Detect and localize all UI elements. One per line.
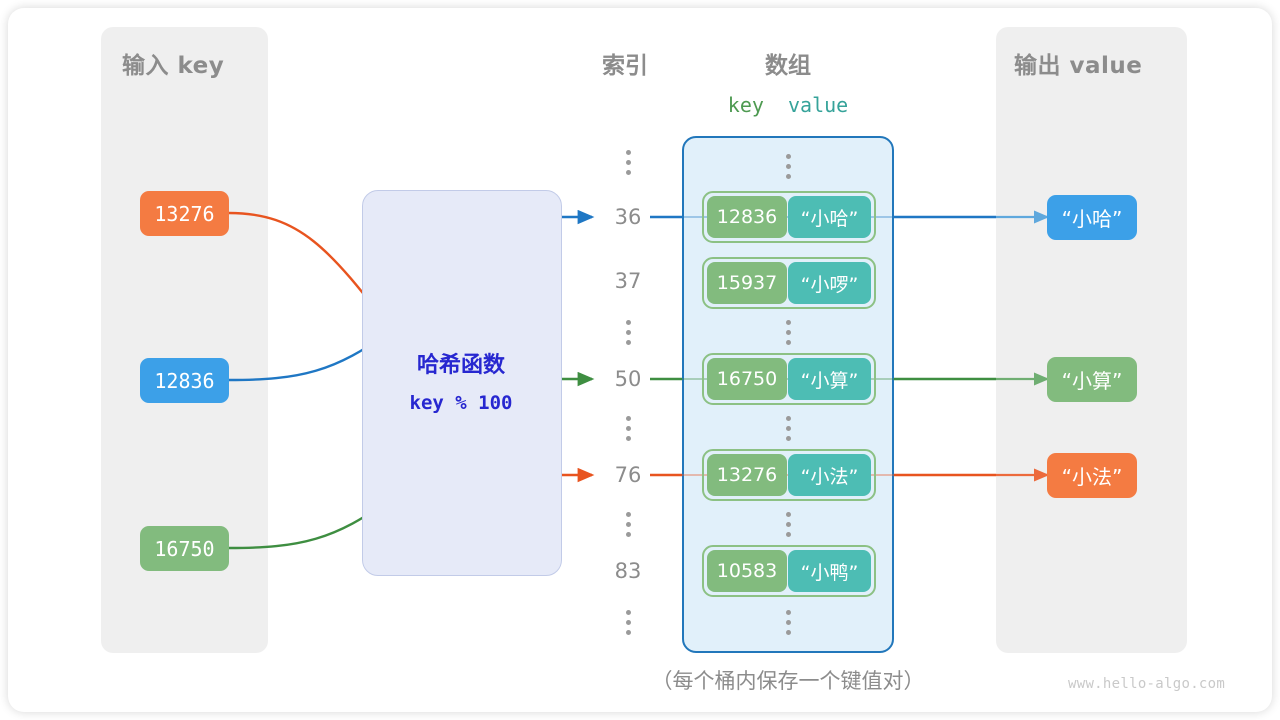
hash-function-box [362,190,562,576]
index-ellipsis-3 [621,512,635,542]
bucket-50-key: 16750 [707,358,787,400]
bucket-37-key: 15937 [707,262,787,304]
diagram-canvas: 哈希函数 key % 100 输入 key 输出 value 索引 数组 key… [0,0,1280,720]
output-value-0[interactable]: “小哈” [1047,195,1137,240]
array-ellipsis-3 [781,512,795,542]
bucket-76-key: 13276 [707,454,787,496]
output-value-2[interactable]: “小法” [1047,453,1137,498]
bucket-83[interactable]: 10583 “小鸭” [702,545,876,597]
bucket-76-value: “小法” [788,454,871,496]
bucket-76[interactable]: 13276 “小法” [702,449,876,501]
hash-function-name: 哈希函数 [362,347,560,379]
index-ellipsis-bottom [621,610,635,640]
diagram-content: 哈希函数 key % 100 输入 key 输出 value 索引 数组 key… [0,0,1280,720]
bucket-36[interactable]: 12836 “小哈” [702,191,876,243]
key-value-legend: key value [688,93,888,117]
bucket-83-value: “小鸭” [788,550,871,592]
bucket-36-key: 12836 [707,196,787,238]
index-column-title: 索引 [560,46,690,80]
output-panel-title: 输出 value [1014,46,1142,80]
input-key-0[interactable]: 13276 [140,191,229,236]
legend-key-label: key [728,93,764,117]
index-ellipsis-1 [621,320,635,350]
hash-function-expression: key % 100 [362,392,560,414]
array-ellipsis-top [781,154,795,184]
array-ellipsis-2 [781,416,795,446]
bucket-36-value: “小哈” [788,196,871,238]
array-ellipsis-1 [781,320,795,350]
bucket-50-value: “小算” [788,358,871,400]
input-key-1[interactable]: 12836 [140,358,229,403]
watermark: www.hello-algo.com [1068,676,1225,692]
bucket-37[interactable]: 15937 “小啰” [702,257,876,309]
index-ellipsis-2 [621,416,635,446]
input-key-2[interactable]: 16750 [140,526,229,571]
index-ellipsis-top [621,150,635,180]
output-value-1[interactable]: “小算” [1047,357,1137,402]
index-label-76: 76 [598,463,658,487]
output-panel [996,27,1187,653]
index-label-37: 37 [598,269,658,293]
bucket-37-value: “小啰” [788,262,871,304]
input-panel-title: 输入 key [122,46,224,80]
bucket-83-key: 10583 [707,550,787,592]
index-label-50: 50 [598,367,658,391]
index-label-36: 36 [598,205,658,229]
diagram-caption: （每个桶内保存一个键值对） [588,665,988,695]
array-column-title: 数组 [723,46,853,80]
legend-value-label: value [788,93,848,117]
array-ellipsis-bottom [781,610,795,640]
bucket-50[interactable]: 16750 “小算” [702,353,876,405]
index-label-83: 83 [598,559,658,583]
